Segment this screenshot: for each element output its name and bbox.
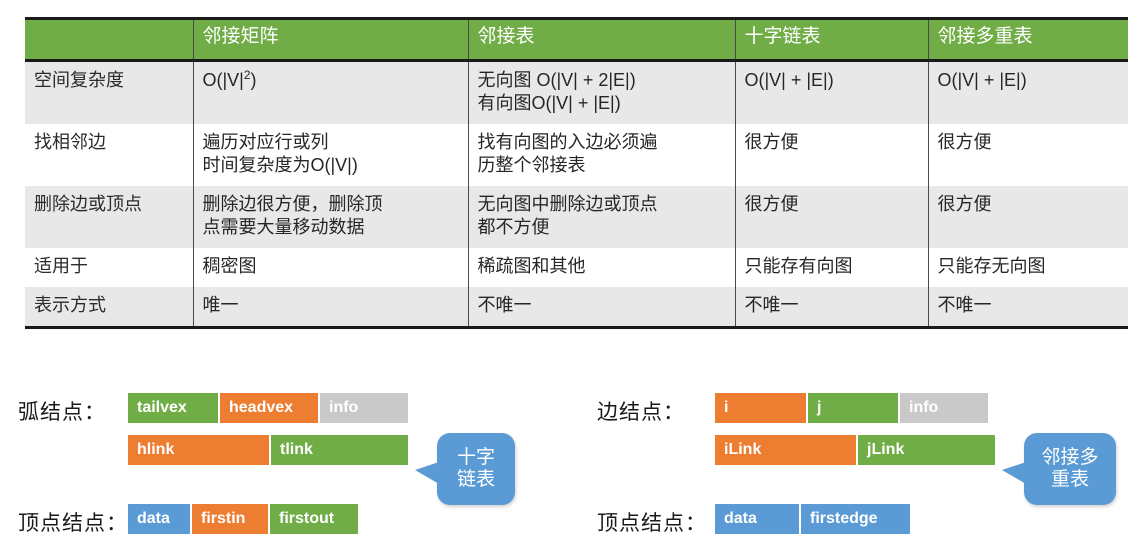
cell-line: 唯一: [203, 294, 459, 317]
edge-node-label: 边结点：: [597, 396, 685, 426]
vertex-field-firstin: firstin: [192, 504, 270, 534]
cell-line: 很方便: [745, 131, 919, 154]
cell-line: 无向图 O(|V| + 2|E|): [478, 69, 726, 92]
table-row: 适用于稠密图稀疏图和其他只能存有向图只能存无向图: [25, 248, 1128, 287]
column-header-adjacency-matrix: 邻接矩阵: [193, 19, 468, 61]
table-cell: O(|V| + |E|): [735, 61, 928, 125]
edge-field-info: info: [900, 393, 988, 423]
column-header-blank: [25, 19, 193, 61]
page-root: 邻接矩阵 邻接表 十字链表 邻接多重表 空间复杂度O(|V|2)无向图 O(|V…: [0, 0, 1138, 554]
arc-field-headvex: headvex: [220, 393, 320, 423]
table-row: 删除边或顶点删除边很方便，删除顶点需要大量移动数据无向图中删除边或顶点都不方便很…: [25, 186, 1128, 248]
cell-line: 只能存无向图: [938, 255, 1120, 278]
vertex-node-row-right: datafirstedge: [715, 504, 910, 534]
column-header-orthogonal-list: 十字链表: [735, 19, 928, 61]
table-cell: 稀疏图和其他: [468, 248, 735, 287]
callout-text-line-2: 重表: [1051, 469, 1089, 491]
column-header-adjacency-multilist: 邻接多重表: [928, 19, 1128, 61]
row-label: 适用于: [25, 248, 193, 287]
table-cell: 无向图 O(|V| + 2|E|)有向图O(|V| + |E|): [468, 61, 735, 125]
table-cell: 很方便: [735, 124, 928, 186]
cell-line: 找有向图的入边必须遍: [478, 131, 726, 154]
table-cell: 稠密图: [193, 248, 468, 287]
table-header-row: 邻接矩阵 邻接表 十字链表 邻接多重表: [25, 19, 1128, 61]
cell-line: 遍历对应行或列: [203, 131, 459, 154]
cell-line: 很方便: [938, 131, 1120, 154]
table-cell: 不唯一: [735, 287, 928, 328]
arc-field-info: info: [320, 393, 408, 423]
table-cell: 删除边很方便，删除顶点需要大量移动数据: [193, 186, 468, 248]
arc-field-tailvex: tailvex: [128, 393, 220, 423]
column-header-adjacency-list: 邻接表: [468, 19, 735, 61]
edge-field-i: i: [715, 393, 808, 423]
table-cell: 不唯一: [468, 287, 735, 328]
vertex-field-data: data: [715, 504, 801, 534]
vertex-node-row-left: datafirstinfirstout: [128, 504, 358, 534]
row-label: 找相邻边: [25, 124, 193, 186]
table-cell: O(|V| + |E|): [928, 61, 1128, 125]
table-cell: 唯一: [193, 287, 468, 328]
cell-line: 不唯一: [745, 294, 919, 317]
vertex-field-data: data: [128, 504, 192, 534]
table-cell: 只能存无向图: [928, 248, 1128, 287]
cell-line: 不唯一: [938, 294, 1120, 317]
cell-line: O(|V| + |E|): [745, 69, 919, 92]
vertex-node-label-right: 顶点结点：: [597, 507, 707, 537]
graph-representation-comparison-table: 邻接矩阵 邻接表 十字链表 邻接多重表 空间复杂度O(|V|2)无向图 O(|V…: [25, 17, 1128, 329]
table-cell: 很方便: [928, 186, 1128, 248]
cell-line: 删除边很方便，删除顶: [203, 193, 459, 216]
table-cell: 不唯一: [928, 287, 1128, 328]
row-label: 表示方式: [25, 287, 193, 328]
cell-line: 不唯一: [478, 294, 726, 317]
edge-field-jlink: jLink: [858, 435, 995, 465]
arc-field-tlink: tlink: [271, 435, 408, 465]
table-body: 空间复杂度O(|V|2)无向图 O(|V| + 2|E|)有向图O(|V| + …: [25, 61, 1128, 328]
table-cell: 遍历对应行或列时间复杂度为O(|V|): [193, 124, 468, 186]
cell-line: 都不方便: [478, 216, 726, 239]
cell-line: 稠密图: [203, 255, 459, 278]
callout-adjacency-multilist: 邻接多重表: [1024, 433, 1116, 505]
edge-field-j: j: [808, 393, 900, 423]
table-row: 找相邻边遍历对应行或列时间复杂度为O(|V|)找有向图的入边必须遍历整个邻接表很…: [25, 124, 1128, 186]
edge-node-row-1: ijinfo: [715, 393, 988, 423]
cell-line: 很方便: [938, 193, 1120, 216]
table-row: 表示方式唯一不唯一不唯一不唯一: [25, 287, 1128, 328]
row-label: 删除边或顶点: [25, 186, 193, 248]
cell-line: 只能存有向图: [745, 255, 919, 278]
cell-line: O(|V| + |E|): [938, 69, 1120, 92]
cell-line: 历整个邻接表: [478, 154, 726, 177]
cell-line: 时间复杂度为O(|V|): [203, 154, 459, 177]
table-cell: 只能存有向图: [735, 248, 928, 287]
table-cell: 无向图中删除边或顶点都不方便: [468, 186, 735, 248]
callout-tail-icon: [1002, 462, 1026, 484]
table-cell: 很方便: [928, 124, 1128, 186]
arc-node-row-1: tailvexheadvexinfo: [128, 393, 408, 423]
arc-field-hlink: hlink: [128, 435, 271, 465]
vertex-node-label-left: 顶点结点：: [18, 507, 128, 537]
callout-text-line-1: 十字: [457, 447, 495, 469]
cell-line: 有向图O(|V| + |E|): [478, 92, 726, 115]
row-label: 空间复杂度: [25, 61, 193, 125]
table-cell: O(|V|2): [193, 61, 468, 125]
edge-field-ilink: iLink: [715, 435, 858, 465]
arc-node-label: 弧结点：: [18, 396, 106, 426]
cell-line: 稀疏图和其他: [478, 255, 726, 278]
table-cell: 很方便: [735, 186, 928, 248]
table-header: 邻接矩阵 邻接表 十字链表 邻接多重表: [25, 19, 1128, 61]
cell-line: 很方便: [745, 193, 919, 216]
callout-tail-icon: [415, 462, 439, 484]
arc-node-row-2: hlinktlink: [128, 435, 408, 465]
vertex-field-firstedge: firstedge: [801, 504, 910, 534]
vertex-field-firstout: firstout: [270, 504, 358, 534]
cell-line: 无向图中删除边或顶点: [478, 193, 726, 216]
cell-line: O(|V|2): [203, 69, 459, 92]
callout-text-line-2: 链表: [457, 469, 495, 491]
table-cell: 找有向图的入边必须遍历整个邻接表: [468, 124, 735, 186]
callout-text-line-1: 邻接多: [1041, 447, 1098, 469]
cell-line: 点需要大量移动数据: [203, 216, 459, 239]
callout-orthogonal-list: 十字链表: [437, 433, 515, 505]
edge-node-row-2: iLinkjLink: [715, 435, 995, 465]
table-row: 空间复杂度O(|V|2)无向图 O(|V| + 2|E|)有向图O(|V| + …: [25, 61, 1128, 125]
